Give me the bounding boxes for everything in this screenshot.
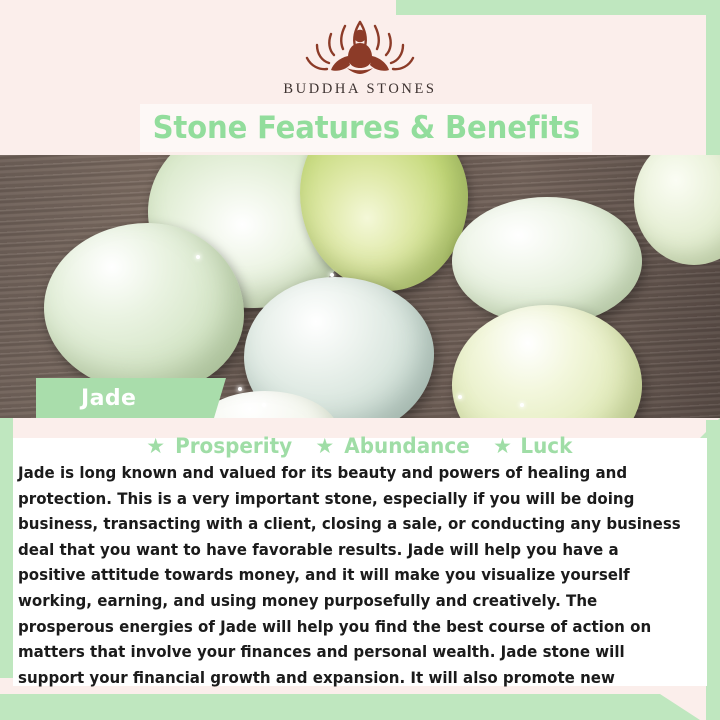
benefit-label: Prosperity: [175, 434, 292, 458]
accent-bar-bottom: [0, 694, 720, 720]
sparkle-highlight: [458, 395, 462, 399]
star-icon: ★: [493, 436, 512, 457]
stone-name-label: Jade: [81, 386, 136, 411]
benefit-label: Luck: [520, 434, 572, 458]
sparkle-highlight: [262, 403, 266, 407]
accent-bar-top-right: [396, 0, 720, 15]
sparkle-highlight: [520, 403, 524, 407]
description-text: Jade is long known and valued for its be…: [18, 461, 684, 720]
jade-stone: [44, 223, 244, 393]
lotus-meditation-icon: [295, 14, 425, 80]
sparkle-highlight: [238, 387, 242, 391]
brand-logo: BUDDHA STONES: [0, 14, 720, 106]
benefits-row: ★ Prosperity ★ Abundance ★ Luck: [13, 430, 707, 462]
title-banner: Stone Features & Benefits: [140, 104, 592, 152]
star-icon: ★: [146, 436, 165, 457]
accent-bar-left-lower: [0, 378, 13, 678]
sparkle-highlight: [196, 255, 200, 259]
infographic-page: BUDDHA STONES Stone Features & Benefits …: [0, 0, 720, 720]
benefit-label: Abundance: [344, 434, 469, 458]
page-title: Stone Features & Benefits: [152, 110, 579, 146]
brand-name: BUDDHA STONES: [283, 81, 436, 98]
benefit-item-luck: ★ Luck: [493, 434, 574, 458]
sparkle-highlight: [330, 273, 334, 277]
benefit-item-abundance: ★ Abundance: [315, 434, 473, 458]
stone-name-banner: Jade: [36, 378, 226, 418]
benefit-item-prosperity: ★ Prosperity: [146, 434, 295, 458]
star-icon: ★: [315, 436, 334, 457]
